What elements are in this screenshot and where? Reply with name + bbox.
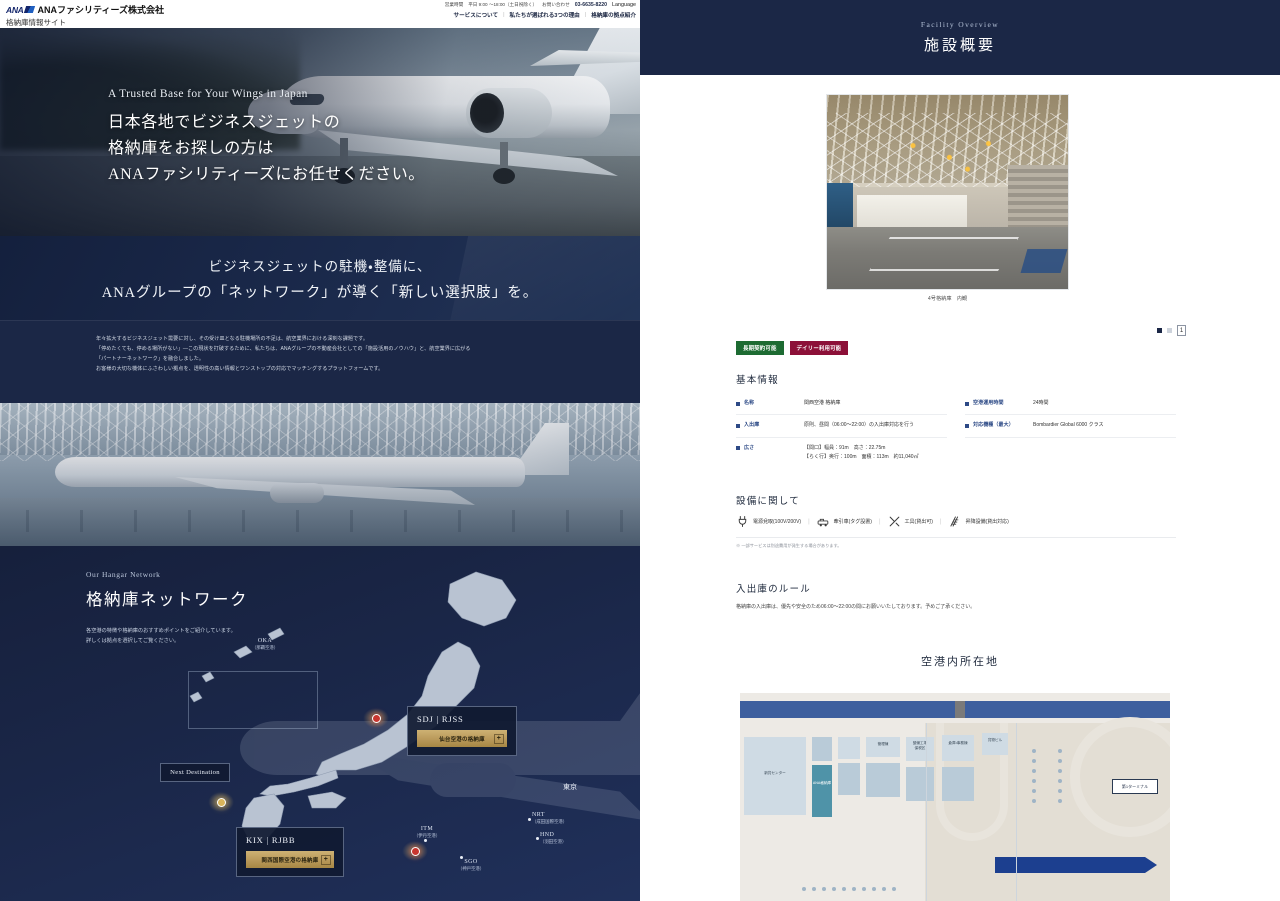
map-building (942, 767, 974, 801)
map-dot-nrt (528, 818, 531, 821)
hangar-photo-strip (0, 403, 640, 546)
equipment-row: 電源兌取(100V/200V) | 牽引車(タグ設置) | 工具(貸出可) | (736, 515, 1176, 538)
map-building-cargo-center (744, 737, 806, 815)
nav-divider: | (503, 12, 504, 18)
intro-section: 年々拡大するビジネスジェット需要に対し、その受け皿となる駐機場所の不足は、航空業… (0, 320, 640, 403)
map-dot-sgo (460, 856, 463, 859)
brand-name: ANAファシリティーズ株式会社 (38, 3, 165, 16)
left-column: A Trusted Base for Your Wings in Japan 日… (0, 0, 640, 901)
tow-vehicle-icon (817, 515, 830, 528)
separator: | (879, 519, 881, 525)
nav-item-reasons[interactable]: 私たちが選ばれる3つの理由 (510, 11, 580, 19)
map-pin-next-destination[interactable] (217, 798, 226, 807)
pager-dot-active[interactable] (1157, 328, 1162, 333)
brand-subtitle: 格納庫情報サイト (6, 17, 164, 28)
hero-line-2: 格納庫をお探しの方は (108, 136, 425, 162)
map-card-kix-code: KIX | RJBB (246, 835, 334, 845)
hero-eyebrow: A Trusted Base for Your Wings in Japan (108, 88, 425, 100)
contact-label[interactable]: お問い合わせ (542, 2, 570, 8)
location-heading: 空港内所在地 (640, 653, 1280, 669)
ana-logo-icon: ANA (6, 5, 34, 15)
map-label-nrt: NRT （成田国際空港） (532, 812, 616, 825)
map-label-itm: ITM （伊丹空港） (400, 826, 454, 839)
network-eyebrow: Our Hangar Network (86, 570, 248, 579)
rules-text: 格納庫の入出庫は、優先や安全のため06:00～22:00の間にお願いいたしており… (736, 603, 1180, 613)
map-pier-highlight (995, 857, 1145, 873)
info-row-access: 入出庫 原則、昼間（06:00～22:00）の入出庫対応を行う (736, 415, 947, 437)
basic-info-table: 名称 関西空港 格納庫 空港運用時間 24時間 入出庫 原則、昼間（06:00～… (736, 393, 1176, 468)
runway-south (965, 701, 1170, 718)
info-row-operating-hours: 空港運用時間 24時間 (965, 393, 1176, 415)
main-nav: サービスについて | 私たちが選ばれる3つの理由 | 格納庫の拠点紹介 (453, 11, 636, 19)
hero-banner: A Trusted Base for Your Wings in Japan 日… (0, 0, 640, 236)
map-pin-kix[interactable] (411, 847, 420, 856)
map-label-sgo: SGO （神戸空港） (438, 859, 504, 872)
info-row-dimensions: 広さ 【間口】幅員：91m 高さ：22.75m 【らく行】奥行：100m 面積：… (736, 438, 947, 469)
badge-long-term: 長期契約可能 (736, 341, 784, 355)
hours-label: 営業時間 (445, 2, 463, 8)
hours-value: 平日 9:00 ～18:00（土日祝除く） (468, 2, 537, 8)
tagline-band: ビジネスジェットの駐機・整備に、 ANAグループの「ネットワーク」が導く「新しい… (0, 236, 640, 320)
rules-heading: 入出庫のルール (736, 581, 811, 595)
equipment-item-ladder: 昇降設備(貸出対応) (948, 515, 1008, 528)
separator: | (808, 519, 810, 525)
map-label-hnd: HND （羽田空港） (540, 832, 610, 845)
tagline-line-1: ビジネスジェットの駐機・整備に、 (209, 255, 432, 275)
plug-icon (736, 515, 749, 528)
next-destination-badge[interactable]: Next Destination (160, 763, 230, 782)
site-header: ANA ANAファシリティーズ株式会社 格納庫情報サイト 営業時間 平日 9:0… (0, 0, 640, 28)
facility-badges: 長期契約可能 デイリー利用可能 (736, 341, 848, 355)
stand-markers (1058, 749, 1062, 803)
language-switcher[interactable]: Language (612, 2, 636, 8)
map-dot-itm (424, 839, 427, 842)
map-label-warehouse: 倉庫・事務棟 (942, 741, 974, 746)
badge-daily-use: デイリー利用可能 (790, 341, 849, 355)
stand-markers (1032, 749, 1036, 803)
nav-item-services[interactable]: サービスについて (453, 11, 498, 19)
hangar-interior-photo[interactable] (826, 94, 1069, 290)
map-card-sdj[interactable]: SDJ | RJSS 仙台空港の格納庫 + (407, 706, 517, 756)
info-row-aircraft-type: 対応機種（最大） Bombardier Global 6000 クラス (965, 415, 1176, 437)
equipment-item-power: 電源兌取(100V/200V) (736, 515, 801, 528)
stand-markers (802, 887, 896, 891)
network-desc-1: 各空港の特徴や格納庫のおすすめポイントをご紹介しています。 (86, 626, 248, 636)
hangar-lights (887, 133, 1017, 175)
header-right: 営業時間 平日 9:00 ～18:00（土日祝除く） お問い合わせ 03-663… (445, 2, 636, 19)
photo-caption: 4号格納庫 内観 (826, 295, 1069, 302)
intro-paragraph-4: お客様の大切な機体にふさわしい拠点を、透明性の高い情報とワンストップの対応でマッ… (96, 365, 558, 375)
plus-icon: + (321, 855, 331, 865)
intro-paragraph-2: 「停めたくても、停める場所がない」―この現状を打破するために、私たちは、ANAグ… (96, 345, 558, 355)
info-row-name: 名称 関西空港 格納庫 (736, 393, 947, 415)
map-label-terminal-1: 第1ターミナル (1112, 779, 1158, 794)
pager-dot[interactable] (1167, 328, 1172, 333)
nav-item-locations[interactable]: 格納庫の拠点紹介 (591, 11, 636, 19)
intro-paragraph-1: 年々拡大するビジネスジェット需要に対し、その受け皿となる駐機場所の不足は、航空業… (96, 335, 558, 345)
brand-block[interactable]: ANA ANAファシリティーズ株式会社 格納庫情報サイト (6, 3, 164, 28)
header-utility-bar: 営業時間 平日 9:00 ～18:00（土日祝除く） お問い合わせ 03-663… (445, 2, 636, 8)
map-building-admin (866, 737, 900, 757)
network-desc-2: 詳しくは拠点を選択してご覧ください。 (86, 636, 248, 646)
map-building (838, 763, 860, 795)
map-pin-sendai[interactable] (372, 714, 381, 723)
map-building (838, 737, 860, 759)
network-heading-block: Our Hangar Network 格納庫ネットワーク 各空港の特徴や格納庫の… (86, 570, 248, 647)
okinawa-inset-box (188, 671, 318, 729)
network-title: 格納庫ネットワーク (86, 586, 248, 610)
facility-header: Facility Overview 施設概要 (640, 0, 1280, 75)
map-building-ana-hangar (812, 765, 832, 817)
runway-north (740, 701, 955, 718)
map-building-cargo (982, 733, 1008, 755)
equipment-item-tow-vehicle: 牽引車(タグ設置) (817, 515, 872, 528)
map-building (906, 767, 934, 801)
facility-title: 施設概要 (924, 34, 996, 55)
airport-location-map[interactable]: 新貨センター ANA格納庫 管理棟 整備工場 保税区 倉庫・事務棟 貨物ビル 第… (740, 693, 1170, 901)
ladder-icon (948, 515, 961, 528)
facility-eyebrow: Facility Overview (921, 20, 999, 29)
map-label-admin: 管理棟 (866, 742, 900, 747)
map-building (812, 737, 832, 761)
right-column: Facility Overview 施設概要 4号格納庫 内観 1 長期契約可能… (640, 0, 1280, 901)
hero-line-3: ANAファシリティーズにお任せください。 (108, 162, 425, 188)
map-card-kix-button[interactable]: 関西国際空港の格納庫 + (246, 851, 334, 868)
map-building-warehouse (942, 735, 974, 761)
runway-gap (955, 701, 965, 718)
network-description: 各空港の特徴や格納庫のおすすめポイントをご紹介しています。 詳しくは拠点を選択し… (86, 626, 248, 647)
map-building (866, 763, 900, 797)
hero-copy: A Trusted Base for Your Wings in Japan 日… (108, 88, 425, 188)
map-label-cargo-center: 新貨センター (746, 771, 804, 776)
map-label-ana-hangar: ANA格納庫 (812, 781, 832, 786)
intro-text-block: 年々拡大するビジネスジェット需要に対し、その受け皿となる駐機場所の不足は、航空業… (96, 335, 558, 375)
photo-pager[interactable]: 1 (1157, 325, 1186, 336)
page-root: A Trusted Base for Your Wings in Japan 日… (0, 0, 1280, 901)
equipment-item-tools: 工具(貸出可) (888, 515, 933, 528)
telephone-number[interactable]: 03-6635-8220 (575, 2, 607, 8)
plus-icon: + (494, 734, 504, 744)
map-label-tokyo: 東京 (550, 782, 590, 792)
map-label-cargo: 貨物ビル (982, 738, 1008, 743)
intro-paragraph-3: 「パートナーネットワーク」を融合しました。 (96, 355, 558, 365)
equipment-block: 電源兌取(100V/200V) | 牽引車(タグ設置) | 工具(貸出可) | (736, 515, 1176, 549)
equipment-note: ※ 一部サービスは別途費用が発生する場合があります。 (736, 543, 1176, 549)
nav-divider: | (585, 12, 586, 18)
map-dot-hnd (536, 837, 539, 840)
map-card-kix[interactable]: KIX | RJBB 関西国際空港の格納庫 + (236, 827, 344, 877)
pager-current-page[interactable]: 1 (1177, 325, 1186, 336)
hero-line-1: 日本各地でビジネスジェットの (108, 110, 425, 136)
separator: | (940, 519, 942, 525)
map-card-sdj-button[interactable]: 仙台空港の格納庫 + (417, 730, 507, 747)
map-card-sdj-code: SDJ | RJSS (417, 714, 507, 724)
tagline-line-2: ANAグループの「ネットワーク」が導く「新しい選択肢」を。 (102, 281, 539, 302)
basic-info-heading: 基本情報 (736, 372, 779, 386)
facility-sheet: 4号格納庫 内観 1 長期契約可能 デイリー利用可能 基本情報 名称 関西空港 … (640, 75, 1280, 901)
tools-icon (888, 515, 901, 528)
map-label-factory: 整備工場 保税区 (906, 741, 934, 750)
equipment-heading: 設備に関して (736, 493, 800, 507)
